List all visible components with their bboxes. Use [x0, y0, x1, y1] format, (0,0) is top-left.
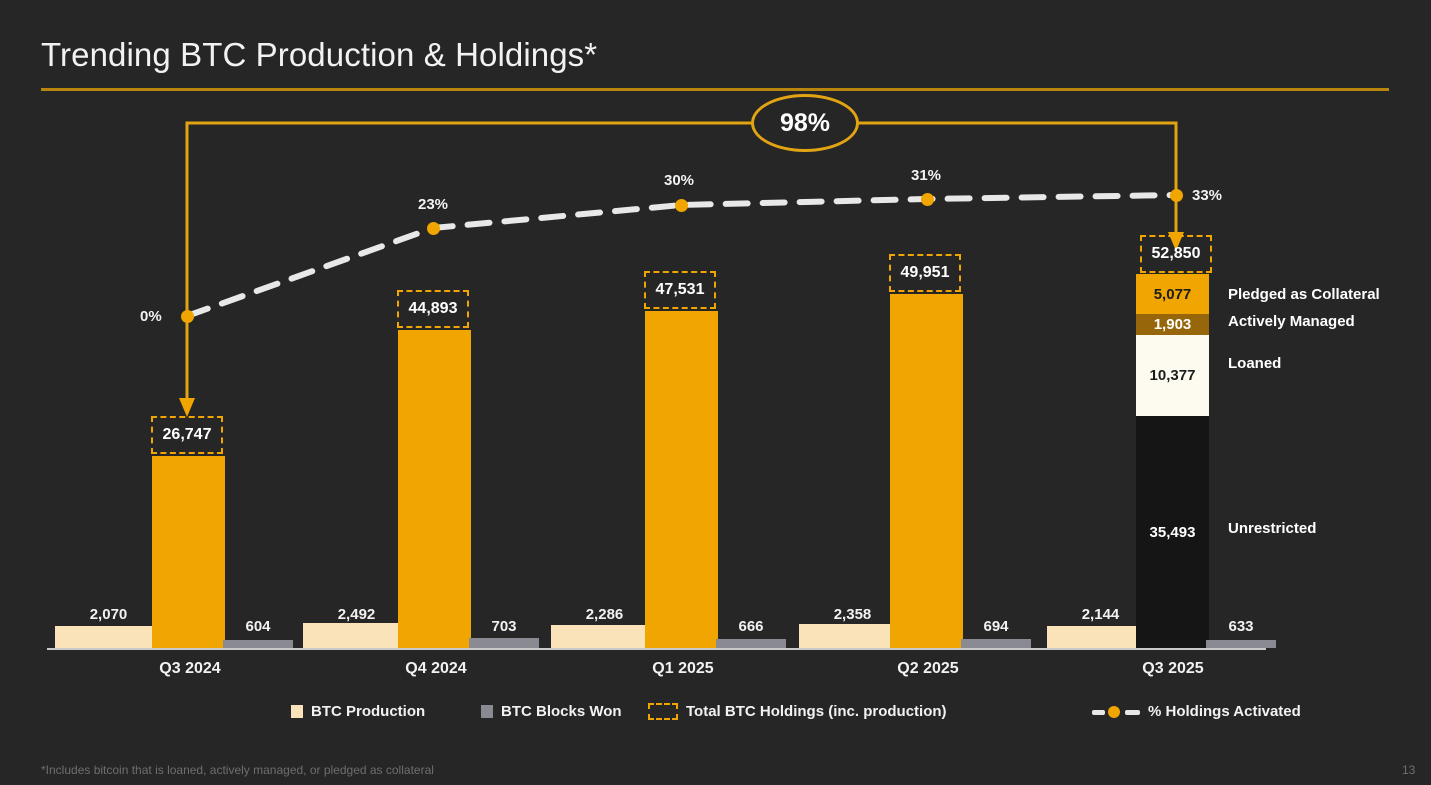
- pct-marker-q1-2025: [675, 199, 688, 212]
- bar-blocks-won-q1-2025[interactable]: [716, 639, 786, 648]
- x-axis-label-q1-2025: Q1 2025: [603, 660, 763, 678]
- slide: Trending BTC Production & Holdings* 98% …: [0, 0, 1431, 785]
- stack-label-actively-managed: Actively Managed: [1228, 313, 1355, 330]
- callout-98-percent: 98%: [751, 94, 859, 152]
- pct-label-q2-2025: 31%: [911, 167, 941, 184]
- stack-segment-unrestricted[interactable]: 35,493: [1136, 416, 1209, 648]
- stack-label-loaned: Loaned: [1228, 355, 1281, 372]
- x-axis-label-q2-2025: Q2 2025: [848, 660, 1008, 678]
- page-number: 13: [1402, 763, 1415, 777]
- pct-marker-q3-2025: [1170, 189, 1183, 202]
- bar-holdings-q3-2024[interactable]: [152, 456, 225, 648]
- bar-value-blocks-won-q3-2025: 633: [1206, 618, 1276, 635]
- bar-value-production-q3-2024: 2,070: [55, 606, 162, 623]
- bar-holdings-q2-2025[interactable]: [890, 294, 963, 648]
- bar-blocks-won-q3-2024[interactable]: [223, 640, 293, 648]
- holdings-total-box-q2-2025: 49,951: [889, 254, 961, 292]
- callout-arrowhead-left: [179, 398, 195, 417]
- legend-item-btc-blocks-won[interactable]: BTC Blocks Won: [481, 703, 622, 720]
- pct-label-q3-2024: 0%: [140, 308, 162, 325]
- bar-blocks-won-q4-2024[interactable]: [469, 638, 539, 648]
- legend-label-btc-blocks-won: BTC Blocks Won: [501, 703, 622, 720]
- holdings-total-box-q4-2024: 44,893: [397, 290, 469, 328]
- bar-production-q1-2025[interactable]: [551, 625, 658, 648]
- chart-legend: BTC Production BTC Blocks Won Total BTC …: [0, 703, 1431, 729]
- legend-swatch-holdings-dashed-box-icon: [648, 703, 678, 720]
- bar-production-q4-2024[interactable]: [303, 623, 410, 648]
- legend-swatch-blocks-won-icon: [481, 705, 493, 718]
- legend-item-pct-holdings-activated[interactable]: % Holdings Activated: [1092, 703, 1301, 720]
- bar-blocks-won-q3-2025[interactable]: [1206, 640, 1276, 648]
- pct-label-q3-2025: 33%: [1192, 187, 1222, 204]
- stack-segment-actively-managed[interactable]: 1,903: [1136, 314, 1209, 335]
- bar-holdings-q1-2025[interactable]: [645, 311, 718, 648]
- pct-label-q1-2025: 30%: [664, 172, 694, 189]
- bar-holdings-q4-2024[interactable]: [398, 330, 471, 648]
- bar-value-blocks-won-q1-2025: 666: [716, 618, 786, 635]
- stack-segment-pledged-as-collateral[interactable]: 5,077: [1136, 274, 1209, 314]
- legend-item-btc-production[interactable]: BTC Production: [291, 703, 425, 720]
- x-axis-label-q3-2025: Q3 2025: [1093, 660, 1253, 678]
- bar-value-production-q4-2024: 2,492: [303, 606, 410, 623]
- bar-value-production-q1-2025: 2,286: [551, 606, 658, 623]
- pct-marker-q3-2024: [181, 310, 194, 323]
- legend-swatch-pct-line-icon: [1092, 706, 1140, 718]
- holdings-total-box-q3-2024: 26,747: [151, 416, 223, 454]
- bar-value-blocks-won-q3-2024: 604: [223, 618, 293, 635]
- pct-marker-q4-2024: [427, 222, 440, 235]
- legend-item-total-btc-holdings[interactable]: Total BTC Holdings (inc. production): [648, 703, 947, 720]
- bar-value-blocks-won-q4-2024: 703: [469, 618, 539, 635]
- callout-connector-right: [858, 123, 1176, 238]
- holdings-total-box-q1-2025: 47,531: [644, 271, 716, 309]
- legend-swatch-production-icon: [291, 705, 303, 718]
- holdings-total-box-q3-2025: 52,850: [1140, 235, 1212, 273]
- pct-marker-q2-2025: [921, 193, 934, 206]
- legend-label-pct-holdings-activated: % Holdings Activated: [1148, 703, 1301, 720]
- stack-label-pledged-as-collateral: Pledged as Collateral: [1228, 286, 1380, 303]
- stack-label-unrestricted: Unrestricted: [1228, 520, 1316, 537]
- footnote: *Includes bitcoin that is loaned, active…: [41, 763, 434, 777]
- bar-blocks-won-q2-2025[interactable]: [961, 639, 1031, 648]
- legend-label-btc-production: BTC Production: [311, 703, 425, 720]
- stack-segment-loaned[interactable]: 10,377: [1136, 335, 1209, 416]
- legend-label-total-btc-holdings: Total BTC Holdings (inc. production): [686, 703, 947, 720]
- pct-label-q4-2024: 23%: [418, 196, 448, 213]
- bar-production-q3-2024[interactable]: [55, 626, 162, 648]
- bar-value-blocks-won-q2-2025: 694: [961, 618, 1031, 635]
- stacked-bar-holdings-q3-2025[interactable]: 5,077 1,903 10,377 35,493: [1136, 274, 1209, 648]
- x-axis-label-q3-2024: Q3 2024: [110, 660, 270, 678]
- chart-plot-area: 98% 0% 23% 30% 31% 33% 2,070 26,747 604 …: [0, 0, 1431, 785]
- x-axis-line: [47, 648, 1266, 650]
- x-axis-label-q4-2024: Q4 2024: [356, 660, 516, 678]
